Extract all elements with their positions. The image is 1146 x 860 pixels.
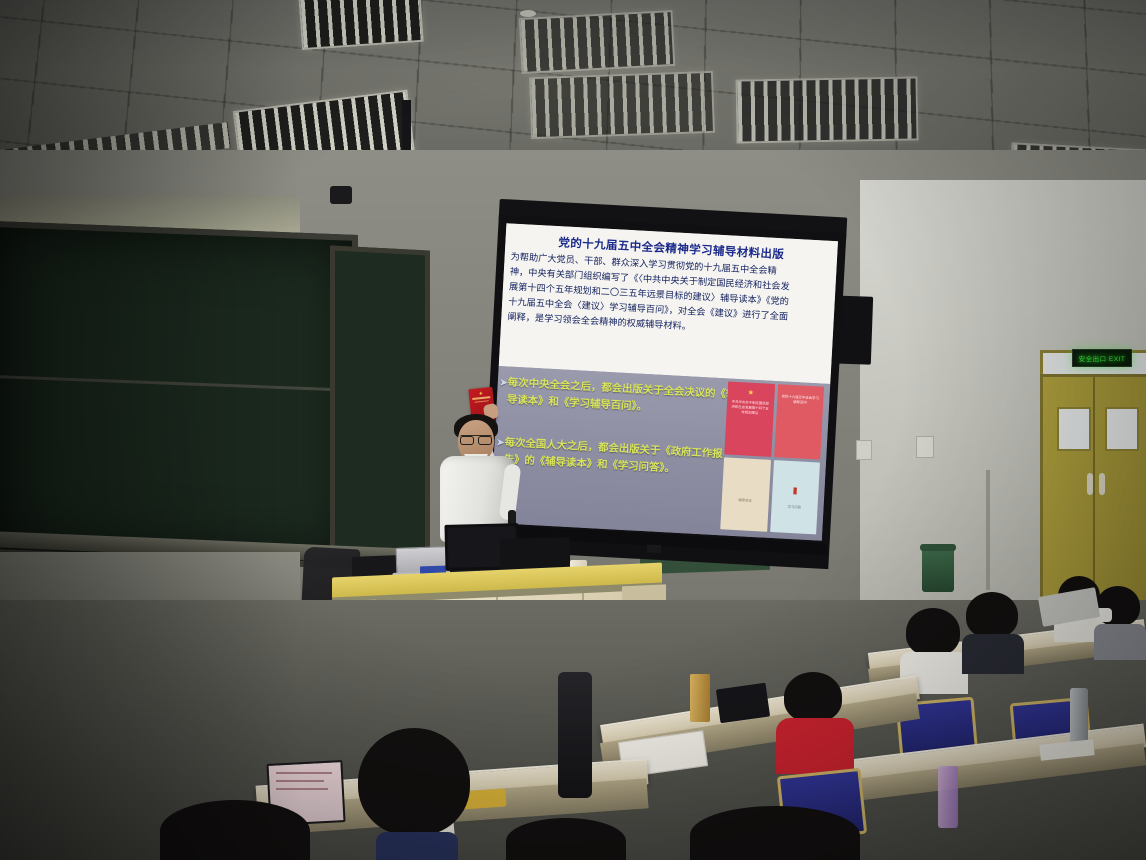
floor-pole [986, 470, 990, 590]
ceiling-light-fixture [298, 0, 424, 50]
book-cover-red-left: ★ 中共中央关于制定国民经济和社会发展第十四个五年规划建议 [724, 381, 774, 456]
student-grey-right [1094, 586, 1146, 656]
tablet-text-line [276, 788, 328, 790]
trash-bin-lid [920, 544, 956, 551]
book-caption: 辅导读本 [726, 497, 765, 504]
trash-bin [922, 548, 954, 592]
student-shirt [376, 832, 458, 860]
book-caption: 学习问答 [775, 504, 814, 511]
book-emblem-icon: ▮ [792, 485, 798, 496]
security-camera-icon [330, 186, 352, 204]
student-shirt [962, 634, 1024, 674]
ceiling-light-fixture [529, 71, 715, 139]
bullet-marker-icon: ➤ [499, 375, 507, 390]
student-laptop[interactable] [716, 683, 770, 724]
chalkboard-divider [0, 375, 352, 392]
student-hair [784, 672, 842, 722]
tablet-text-line [276, 772, 332, 774]
student-hoodie [776, 718, 854, 774]
exit-door[interactable] [1040, 374, 1146, 606]
lecture-hall-photo: 党的十九届五中全会精神学习辅导材料出版 为帮助广大党员、干部、群众深入学习贯彻党… [0, 0, 1146, 860]
chalkboard-side-panel [330, 245, 430, 560]
student-center-tablet [352, 728, 478, 860]
tablet-text-line [276, 780, 324, 782]
book-cover-red-right: 党的十九届五中全会学习辅导百问 [774, 384, 824, 459]
door-center-seam [1093, 377, 1095, 603]
gold-thermos [690, 674, 710, 722]
student-hair [906, 608, 960, 656]
student-front-center [506, 818, 626, 860]
student-hair [966, 592, 1018, 638]
door-window [1105, 407, 1139, 451]
student-hair [506, 818, 626, 860]
ceiling-light-fixture [735, 76, 918, 143]
chair-backrest-dark [558, 672, 592, 798]
book-cover-blue-right: ▮ 学习问答 [770, 460, 820, 535]
student-front-right [690, 806, 860, 860]
thermos-bottle [1070, 688, 1088, 746]
ceiling-light-fixture [519, 10, 676, 74]
book-cover-cream-left: 辅导读本 [720, 457, 770, 532]
chalkboard [0, 221, 358, 569]
exit-sign: 安全出口 EXIT [1072, 349, 1132, 367]
projector-mount [402, 100, 411, 154]
door-handle[interactable] [1099, 473, 1105, 495]
party-emblem-icon: ★ [748, 389, 755, 397]
student-red-hoodie [776, 672, 850, 768]
smoke-detector-icon [520, 10, 536, 17]
screen-weight-bar [647, 544, 661, 553]
book-caption: 党的十九届五中全会学习辅导百问 [781, 394, 820, 406]
booklet-subtitle-line [475, 400, 489, 403]
door-window [1057, 407, 1091, 451]
water-bottle [938, 766, 958, 828]
wall-socket [856, 440, 872, 460]
student-front-left [160, 800, 310, 860]
eyeglasses-icon [460, 435, 492, 443]
booklet-title-line [472, 396, 490, 399]
student-dark-right [962, 592, 1024, 670]
book-cover-grid: ★ 中共中央关于制定国民经济和社会发展第十四个五年规划建议 党的十九届五中全会学… [720, 381, 824, 534]
wall-socket [916, 436, 934, 458]
student-hair [358, 728, 470, 836]
student-shirt [1094, 624, 1146, 660]
student-hair [690, 806, 860, 860]
student-hair [160, 800, 310, 860]
book-caption: 中共中央关于制定国民经济和社会发展第十四个五年规划建议 [730, 400, 769, 417]
